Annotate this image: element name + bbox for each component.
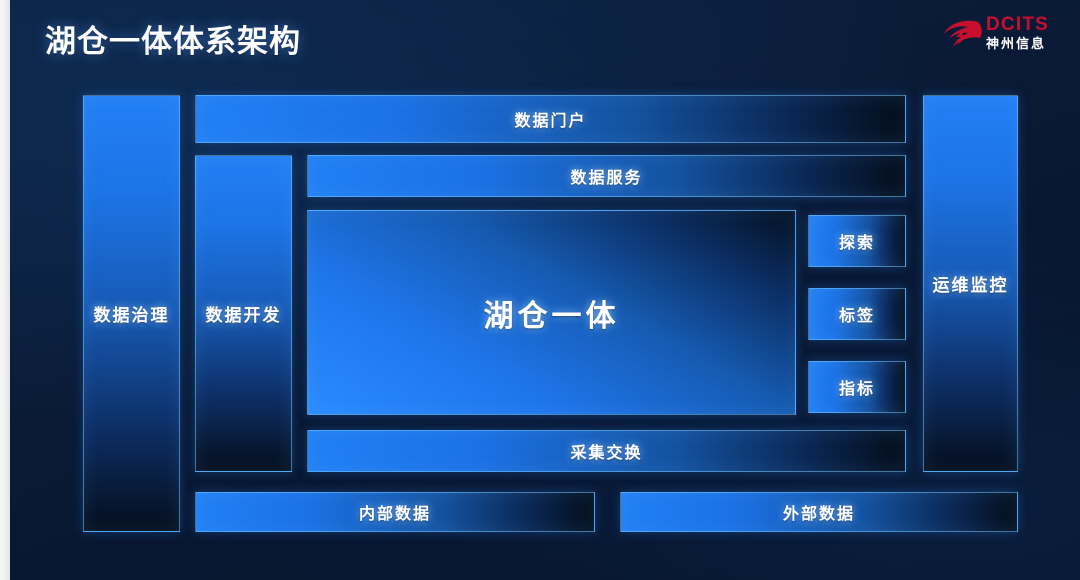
chip-tag[interactable]: 标签 <box>808 288 906 340</box>
pillar-data-governance[interactable]: 数据治理 <box>83 95 180 532</box>
swirl-logo-mark-icon <box>942 17 984 53</box>
bar-collect-exchange-label: 采集交换 <box>570 439 642 463</box>
chip-explore-label: 探索 <box>839 229 875 253</box>
slide-canvas: 湖仓一体体系架构 DCITS 神州信息 数据治理 数据开发 运维监控 数据门户 … <box>0 0 1080 580</box>
chip-tag-label: 标签 <box>839 302 875 326</box>
source-internal-data[interactable]: 内部数据 <box>195 492 595 532</box>
pillar-ops-monitoring-label: 运维监控 <box>933 271 1009 296</box>
bar-data-service[interactable]: 数据服务 <box>307 155 906 197</box>
source-internal-data-label: 内部数据 <box>359 500 431 524</box>
bar-collect-exchange[interactable]: 采集交换 <box>307 430 906 472</box>
core-lakehouse-label: 湖仓一体 <box>484 291 620 335</box>
pillar-data-development-label: 数据开发 <box>206 301 282 326</box>
chip-explore[interactable]: 探索 <box>808 215 906 267</box>
brand-logo-text: DCITS 神州信息 <box>986 14 1049 52</box>
left-edge-strip <box>0 0 10 580</box>
source-external-data-label: 外部数据 <box>783 500 855 524</box>
source-external-data[interactable]: 外部数据 <box>620 492 1018 532</box>
core-lakehouse[interactable]: 湖仓一体 <box>307 210 796 415</box>
pillar-data-governance-label: 数据治理 <box>94 301 170 326</box>
bar-data-portal-label: 数据门户 <box>514 107 586 131</box>
bar-data-portal[interactable]: 数据门户 <box>195 95 906 143</box>
page-title: 湖仓一体体系架构 <box>45 16 301 61</box>
pillar-ops-monitoring[interactable]: 运维监控 <box>923 95 1018 472</box>
chip-metric-label: 指标 <box>839 375 875 399</box>
pillar-data-development[interactable]: 数据开发 <box>195 155 292 472</box>
brand-name-en: DCITS <box>986 14 1049 35</box>
bar-data-service-label: 数据服务 <box>570 164 642 188</box>
brand-name-cn: 神州信息 <box>986 35 1049 52</box>
chip-metric[interactable]: 指标 <box>808 361 906 413</box>
brand-logo: DCITS 神州信息 <box>942 12 1062 60</box>
